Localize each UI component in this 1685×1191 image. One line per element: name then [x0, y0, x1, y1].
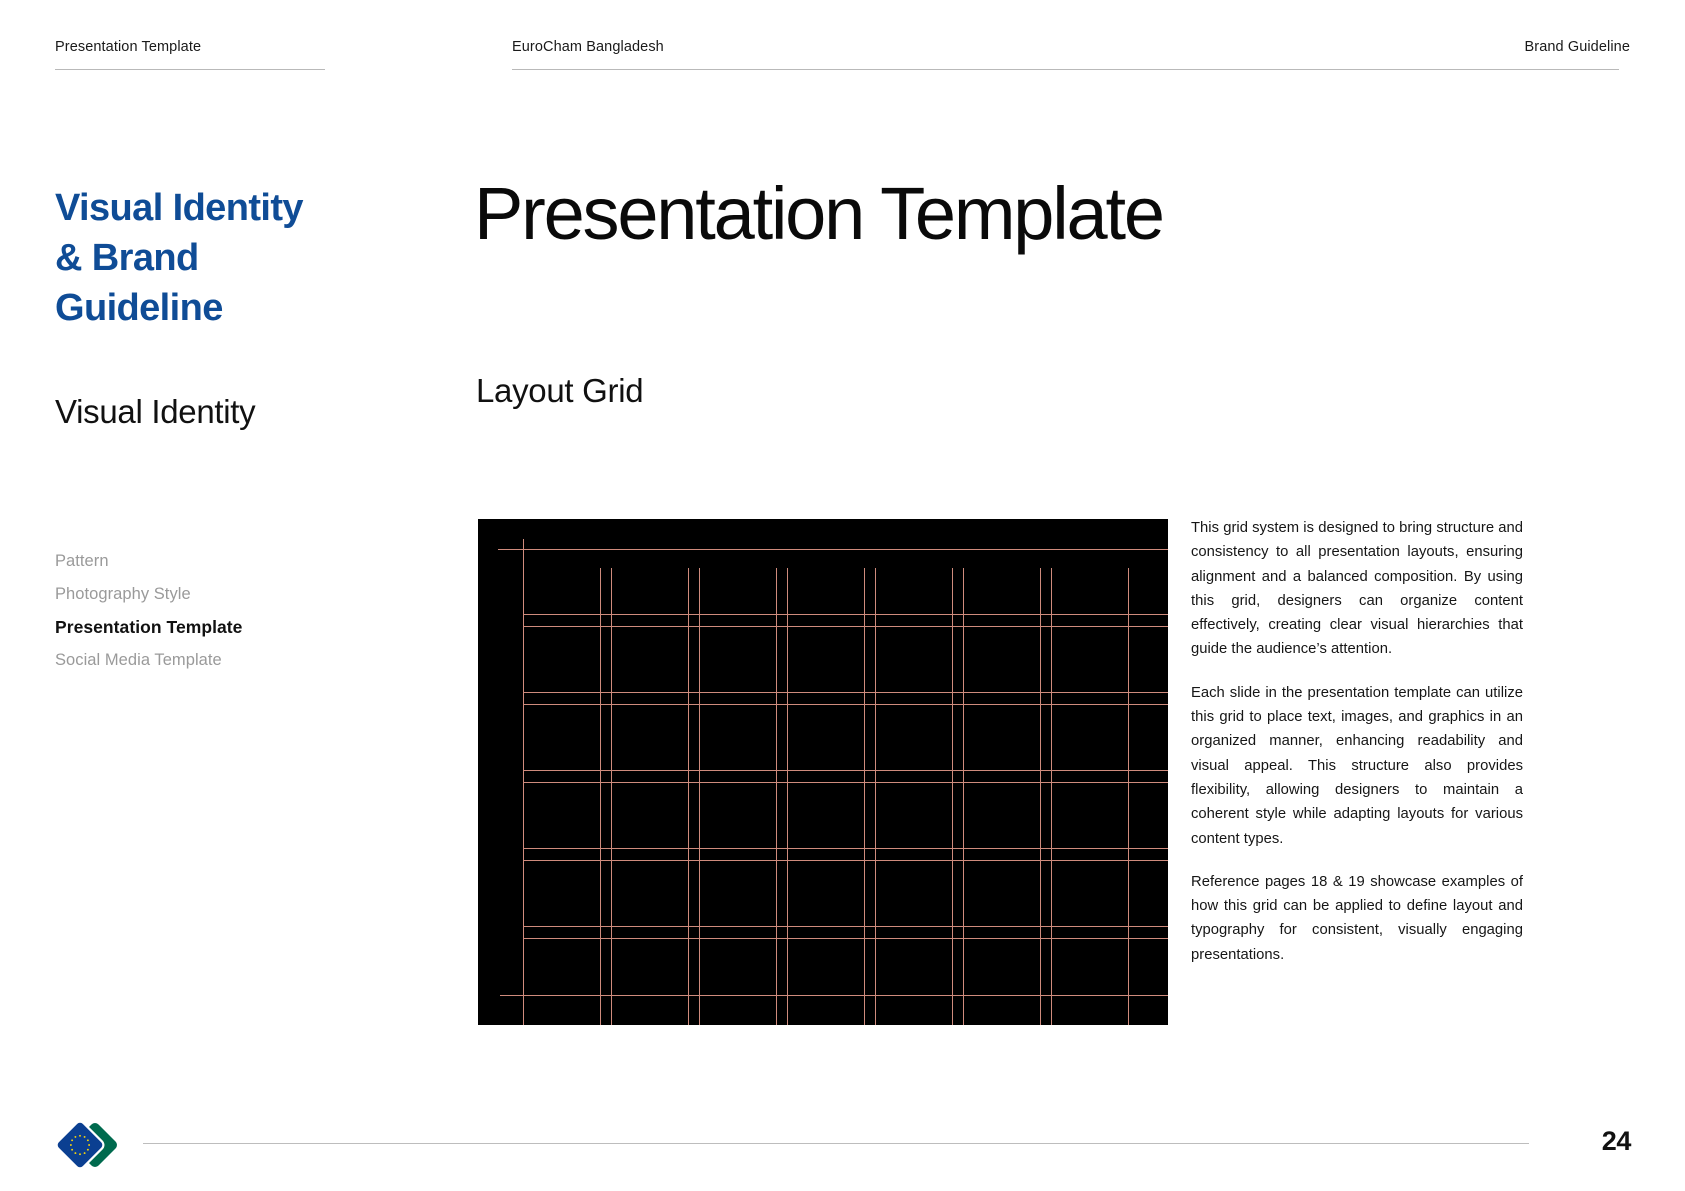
- header-left-block: Presentation Template: [55, 38, 325, 70]
- description-text: This grid system is designed to bring st…: [1191, 516, 1523, 967]
- header-left-rule: [55, 69, 325, 70]
- sidebar-title-line-2: & Brand: [55, 233, 435, 283]
- sidebar-title-line-1: Visual Identity: [55, 183, 435, 233]
- page-header: Presentation Template EuroCham Banglades…: [0, 38, 1685, 80]
- sidebar-title: Visual Identity & Brand Guideline: [55, 183, 435, 333]
- header-center-block: EuroCham Bangladesh: [512, 38, 932, 70]
- grid-line-vertical: [523, 568, 524, 1025]
- grid-line-horizontal: [523, 848, 1168, 849]
- grid-line-horizontal: [523, 926, 1168, 927]
- header-center-rule: [512, 69, 1619, 70]
- grid-line-vertical: [963, 568, 964, 1025]
- page-footer: 24: [0, 1099, 1685, 1191]
- grid-line-vertical: [1128, 568, 1129, 1025]
- paragraph: Reference pages 18 & 19 showcase example…: [1191, 870, 1523, 967]
- grid-line-vertical: [1040, 568, 1041, 1025]
- slide-page: Presentation Template EuroCham Banglades…: [0, 0, 1685, 1191]
- page-number: 24: [1602, 1124, 1631, 1158]
- header-left-label: Presentation Template: [55, 38, 325, 56]
- paragraph: This grid system is designed to bring st…: [1191, 516, 1523, 662]
- sidebar-item-pattern[interactable]: Pattern: [55, 545, 435, 578]
- sidebar-item-photography-style[interactable]: Photography Style: [55, 578, 435, 611]
- sidebar-section-heading: Visual Identity: [55, 392, 435, 432]
- grid-line-horizontal: [500, 995, 1168, 996]
- sidebar-item-social-media-template[interactable]: Social Media Template: [55, 644, 435, 677]
- grid-line-horizontal: [523, 626, 1168, 627]
- footer-rule: [143, 1143, 1529, 1144]
- page-title: Presentation Template: [474, 172, 1163, 256]
- grid-line-horizontal: [523, 782, 1168, 783]
- grid-line-vertical: [600, 568, 601, 1025]
- grid-line-vertical: [875, 568, 876, 1025]
- grid-line-horizontal: [523, 692, 1168, 693]
- grid-line-horizontal: [523, 770, 1168, 771]
- grid-line-vertical: [688, 568, 689, 1025]
- page-subtitle: Layout Grid: [476, 370, 643, 412]
- sidebar-item-presentation-template[interactable]: Presentation Template: [55, 611, 435, 644]
- grid-line-vertical: [1051, 568, 1052, 1025]
- grid-line-vertical: [787, 568, 788, 1025]
- eurocham-bangladesh-logo: [55, 1119, 127, 1171]
- grid-line-vertical: [611, 568, 612, 1025]
- grid-line-vertical: [864, 568, 865, 1025]
- grid-line-vertical: [699, 568, 700, 1025]
- header-right-label: Brand Guideline: [1100, 38, 1630, 56]
- sidebar-nav: Pattern Photography Style Presentation T…: [55, 545, 435, 677]
- sidebar-title-line-3: Guideline: [55, 283, 435, 333]
- paragraph: Each slide in the presentation template …: [1191, 681, 1523, 851]
- sidebar: Visual Identity & Brand Guideline Visual…: [55, 183, 435, 432]
- grid-line-vertical: [952, 568, 953, 1025]
- header-right-block: Brand Guideline: [1100, 38, 1630, 56]
- grid-line-horizontal: [523, 938, 1168, 939]
- layout-grid-diagram: [478, 519, 1168, 1025]
- grid-line-vertical: [776, 568, 777, 1025]
- grid-line-horizontal: [498, 549, 1168, 550]
- grid-line-horizontal: [523, 614, 1168, 615]
- header-center-label: EuroCham Bangladesh: [512, 38, 932, 56]
- grid-line-horizontal: [523, 860, 1168, 861]
- grid-line-horizontal: [523, 704, 1168, 705]
